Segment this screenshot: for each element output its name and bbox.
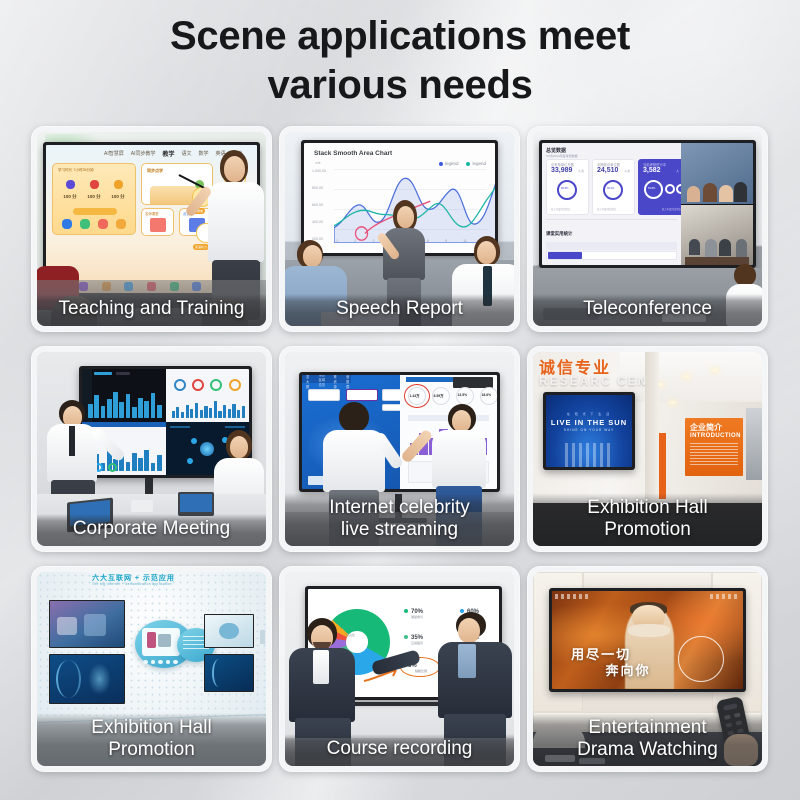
nav-tab-0[interactable]: AI智慧屏: [104, 150, 124, 157]
scene-image-speech-report: Stack Smooth Area Chart unit legend lege…: [285, 132, 514, 326]
conference-display: 总览数据 XX省2024年度考核数据 总考核单位总数 33,989 人次 86.…: [539, 140, 756, 268]
caption-line-1: Internet celebrity: [293, 497, 506, 519]
x-tick-1: 2: [354, 239, 356, 243]
display-panel-1: [49, 654, 125, 704]
score-1: 100 分: [87, 194, 100, 200]
kpi-card-2[interactable]: 当前考核进行中 3,582 人 65.8% 较上年度同比增长: [638, 159, 686, 215]
card-caption-corporate-meeting: Corporate Meeting: [37, 514, 266, 547]
wall-display: 在 阳 光 下 生 活 LIVE IN THE SUN SHINE ON YOU…: [543, 392, 635, 470]
card-caption-live-streaming: Internet celebrity live streaming: [285, 493, 514, 546]
scene-card-grid: AI智慧屏 AI同步教学 教学 语文 数学 英语 素养 学习时长 7小时35分钟: [31, 126, 770, 781]
kpi-ratio-0: 86.5%: [561, 187, 568, 190]
scene-card-corporate-meeting[interactable]: Corporate Meeting: [31, 346, 272, 552]
scene-image-teleconference: 总览数据 XX省2024年度考核数据 总考核单位总数 33,989 人次 86.…: [533, 132, 762, 326]
legend-label-0: legend: [445, 161, 459, 166]
study-summary-card[interactable]: 学习时长 7小时35分钟 100 分 100 分 100 分: [52, 163, 136, 235]
y-tick-3: 400.00: [312, 214, 326, 231]
tv-pre-text: 在 阳 光 下 生 活: [546, 412, 632, 416]
map-pill-0[interactable]: [308, 389, 340, 401]
score-0: 100 分: [63, 194, 76, 200]
study-time-label: 学习时长 7小时35分钟: [58, 168, 94, 173]
scene-image-corporate-meeting: Corporate Meeting: [37, 352, 266, 546]
introduction-poster: 企业简介 INTRODUCTION: [685, 418, 743, 476]
scene-card-exhibition-hall-tech[interactable]: 六大互联网 + 示范应用 The big Internet + demonstr…: [31, 566, 272, 772]
y-tick-2: 600.00: [312, 197, 326, 214]
legend-item-0: 70% 课堂参与: [404, 609, 423, 619]
wall-title-en: RESEARC CENT: [539, 374, 658, 388]
caption-line-2: live streaming: [293, 519, 506, 541]
scene-card-teleconference[interactable]: 总览数据 XX省2024年度考核数据 总考核单位总数 33,989 人次 86.…: [527, 126, 768, 332]
y-tick-1: 800.00: [312, 180, 326, 197]
kpi-value-1: 24,510: [597, 167, 618, 174]
kpi-ratio-1: 90.2%: [607, 187, 614, 190]
map-pill-1[interactable]: [346, 389, 378, 401]
card-caption-teleconference: Teleconference: [533, 294, 762, 327]
caption-line-1: Exhibition Hall: [541, 497, 754, 519]
page-title-line-1: Scene applications meet: [170, 14, 630, 58]
display-panel-0: [49, 600, 125, 648]
page-root: Scene applications meet various needs AI…: [0, 0, 800, 800]
donut-center-label: 总占比: [346, 633, 355, 637]
scene-image-live-streaming: 总览大屏 重点区域总览 教育资源 运营数据: [285, 352, 514, 546]
chart-legend: legend legend: [439, 161, 486, 166]
page-title: Scene applications meet various needs: [0, 12, 800, 110]
scene-card-exhibition-hall-orange[interactable]: 诚信专业 RESEARC CENT 在 阳 光 下 生 活 LIVE IN TH…: [527, 346, 768, 552]
stream-kpi-1: 8.59万: [434, 393, 444, 398]
caption-line-1: Entertainment: [541, 717, 754, 739]
scene-image-exhibition-tech: 六大互联网 + 示范应用 The big Internet + demonstr…: [37, 572, 266, 766]
kpi-unit-2: 人: [676, 169, 679, 173]
kpi-card-1[interactable]: 本期参评单位数 24,510 人次 90.2% 较上年度同比增长: [592, 159, 635, 215]
dashboard-subtitle: XX省2024年度考核数据: [546, 154, 578, 158]
card-caption-entertainment: Entertainment Drama Watching: [533, 713, 762, 766]
tv-subtitle: SHINE ON YOUR WAY: [546, 428, 632, 432]
stream-tab-3[interactable]: 运营数据: [346, 375, 351, 389]
scene-image-teaching: AI智慧屏 AI同步教学 教学 语文 数学 英语 素养 学习时长 7小时35分钟: [37, 132, 266, 326]
chart-y-axis: 1,000.00 800.00 600.00 400.00 200.00: [312, 163, 326, 248]
y-tick-0: 1,000.00: [312, 163, 326, 180]
kpi-note-1: 较上年度同比增长: [597, 207, 616, 211]
display-panel-2: [204, 614, 254, 648]
card-caption-speech-report: Speech Report: [285, 294, 514, 327]
card-caption-exhibition-tech: Exhibition Hall Promotion: [37, 713, 266, 766]
kpi-unit-0: 人次: [578, 169, 584, 173]
nav-tab-1[interactable]: AI同步教学: [131, 150, 156, 157]
scene-image-exhibition-orange: 诚信专业 RESEARC CENT 在 阳 光 下 生 活 LIVE IN TH…: [533, 352, 762, 546]
scene-card-teaching-and-training[interactable]: AI智慧屏 AI同步教学 教学 语文 数学 英语 素养 学习时长 7小时35分钟: [31, 126, 272, 332]
table-title: 课堂实用统计: [546, 231, 572, 237]
scene-card-speech-report[interactable]: Stack Smooth Area Chart unit legend lege…: [279, 126, 520, 332]
scene-image-course-recording: 总占比 70% 课堂参与 60% 作业完成 35% 互动: [285, 572, 514, 766]
sync-learning-title: 同步点学: [147, 168, 163, 174]
kpi-ratio-2: 65.8%: [648, 187, 655, 190]
nav-tab-3[interactable]: 语文: [181, 150, 191, 157]
dashboard-panel-1: [166, 369, 250, 422]
kpi-value-0: 33,989: [551, 167, 572, 174]
kpi-value-2: 3,582: [643, 167, 661, 174]
legend-item-2: 35% 互动提问: [404, 635, 423, 645]
tv-display: 用尽一切 奔向你: [549, 588, 746, 692]
display-panel-3: [204, 654, 254, 692]
caption-line-2: Drama Watching: [541, 739, 754, 761]
drama-title-line-2: 奔向你: [605, 660, 650, 679]
caption-line-2: Promotion: [541, 519, 754, 541]
wall-title-en-tech: The big Internet + demonstration applica…: [92, 582, 172, 586]
dashboard-title: 总览数据: [546, 147, 566, 154]
scene-card-entertainment[interactable]: 用尽一切 奔向你: [527, 566, 768, 772]
scene-image-entertainment: 用尽一切 奔向你: [533, 572, 762, 766]
legend-label-0: 课堂参与: [411, 615, 423, 619]
page-title-line-2: various needs: [0, 61, 800, 110]
kpi-unit-1: 人次: [624, 169, 630, 173]
kpi-note-2: 较上年度同比增长: [662, 207, 681, 211]
nav-tab-active[interactable]: 教学: [162, 149, 174, 158]
caption-line-1: Exhibition Hall: [45, 717, 258, 739]
caption-line-2: Promotion: [45, 739, 258, 761]
scene-card-course-recording[interactable]: 总占比 70% 课堂参与 60% 作业完成 35% 互动: [279, 566, 520, 772]
legend-label-2: 互动提问: [411, 641, 423, 645]
score-2: 100 分: [111, 194, 124, 200]
tv-slogan: LIVE IN THE SUN: [546, 418, 632, 427]
legend-label-1: legend: [472, 161, 486, 166]
stream-tab-1[interactable]: 重点区域总览: [319, 375, 326, 387]
video-tile-1: [681, 205, 753, 266]
famous-class-tile[interactable]: 名师课堂: [141, 208, 174, 236]
card-caption-exhibition-orange: Exhibition Hall Promotion: [533, 493, 762, 546]
poster-title-cn: 企业简介: [690, 422, 722, 433]
chart-title: Stack Smooth Area Chart: [314, 150, 392, 157]
tile-label-0: 名师课堂: [145, 211, 159, 216]
card-caption-course-recording: Course recording: [285, 734, 514, 767]
stream-kpi-3: 18.6%: [482, 393, 492, 397]
stream-tab-0[interactable]: 总览大屏: [306, 375, 311, 389]
card-caption-teaching: Teaching and Training: [37, 294, 266, 327]
kpi-card-0[interactable]: 总考核单位总数 33,989 人次 86.5% 较上年度同比增长: [546, 159, 589, 215]
stream-tab-2[interactable]: 教育资源: [334, 375, 339, 389]
video-tile-0: [681, 143, 753, 204]
kpi-note-0: 较上年度同比增长: [551, 207, 570, 211]
scene-card-live-streaming[interactable]: 总览大屏 重点区域总览 教育资源 运营数据: [279, 346, 520, 552]
stream-kpi-2: 13.5%: [458, 393, 468, 397]
poster-title-en: INTRODUCTION: [690, 433, 741, 439]
